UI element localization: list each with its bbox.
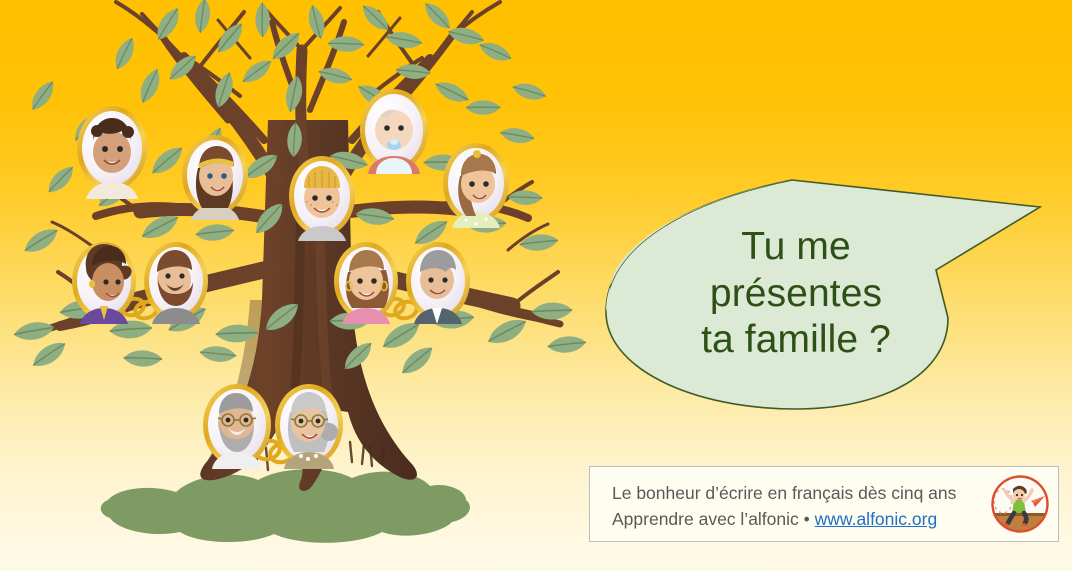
bubble-line-2: présentes [710,271,882,318]
footer-line-2: Apprendre avec l’alfonic • www.alfonic.o… [612,506,972,532]
bubble-line-1: Tu me [741,224,851,271]
footer-line-1: Le bonheur d’écrire en français dès cinq… [612,480,972,506]
footer-banner: Le bonheur d’écrire en français dès cinq… [589,466,1059,542]
footer-line-2-prefix: Apprendre avec l’alfonic • [612,509,815,529]
footer-text-block: Le bonheur d’écrire en français dès cinq… [612,480,972,532]
portrait-grandparent-2 [275,384,343,469]
speech-bubble-text: Tu me présentes ta famille ? [596,178,988,410]
bubble-line-3: ta famille ? [701,317,891,364]
alfonic-website-link[interactable]: www.alfonic.org [815,509,938,529]
speech-bubble: Tu me présentes ta famille ? [596,178,1056,418]
slide-canvas: Tu me présentes ta famille ? Le bonheur … [0,0,1072,571]
grass-patch [101,469,470,543]
portrait-child-4 [360,89,428,174]
family-tree-illustration [0,0,600,571]
portrait-child-1 [77,106,147,199]
alfonic-logo [989,473,1051,535]
